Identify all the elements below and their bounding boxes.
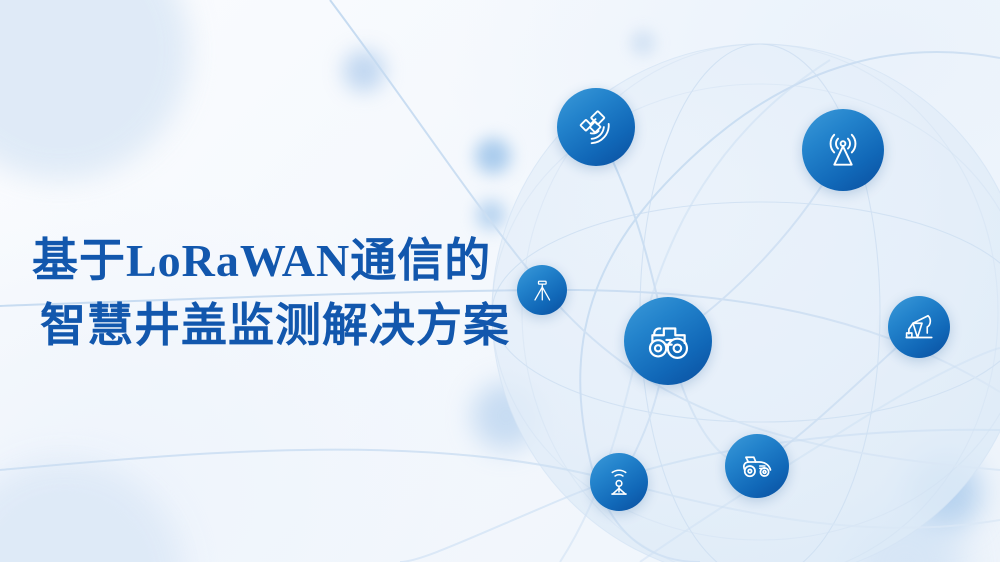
signal-beacon-icon xyxy=(602,465,636,499)
satellite-icon xyxy=(575,106,617,148)
node-harvester[interactable] xyxy=(725,434,789,498)
node-tractor[interactable] xyxy=(624,297,712,385)
page-title: 基于LoRaWAN通信的 智慧井盖监测解决方案 xyxy=(32,228,510,359)
oil-pumpjack-icon xyxy=(901,309,937,345)
title-line-2: 智慧井盖监测解决方案 xyxy=(40,293,510,358)
slide-canvas: 基于LoRaWAN通信的 智慧井盖监测解决方案 xyxy=(0,0,1000,562)
harvester-vehicle-icon xyxy=(738,447,776,485)
node-antenna[interactable] xyxy=(802,109,884,191)
node-oil-pump[interactable] xyxy=(888,296,950,358)
node-beacon[interactable] xyxy=(590,453,648,511)
radio-tower-icon xyxy=(821,128,865,172)
tractor-icon xyxy=(643,316,693,366)
survey-tripod-icon xyxy=(528,276,556,304)
title-line-1: 基于LoRaWAN通信的 xyxy=(32,228,510,293)
node-tripod[interactable] xyxy=(517,265,567,315)
node-satellite[interactable] xyxy=(557,88,635,166)
